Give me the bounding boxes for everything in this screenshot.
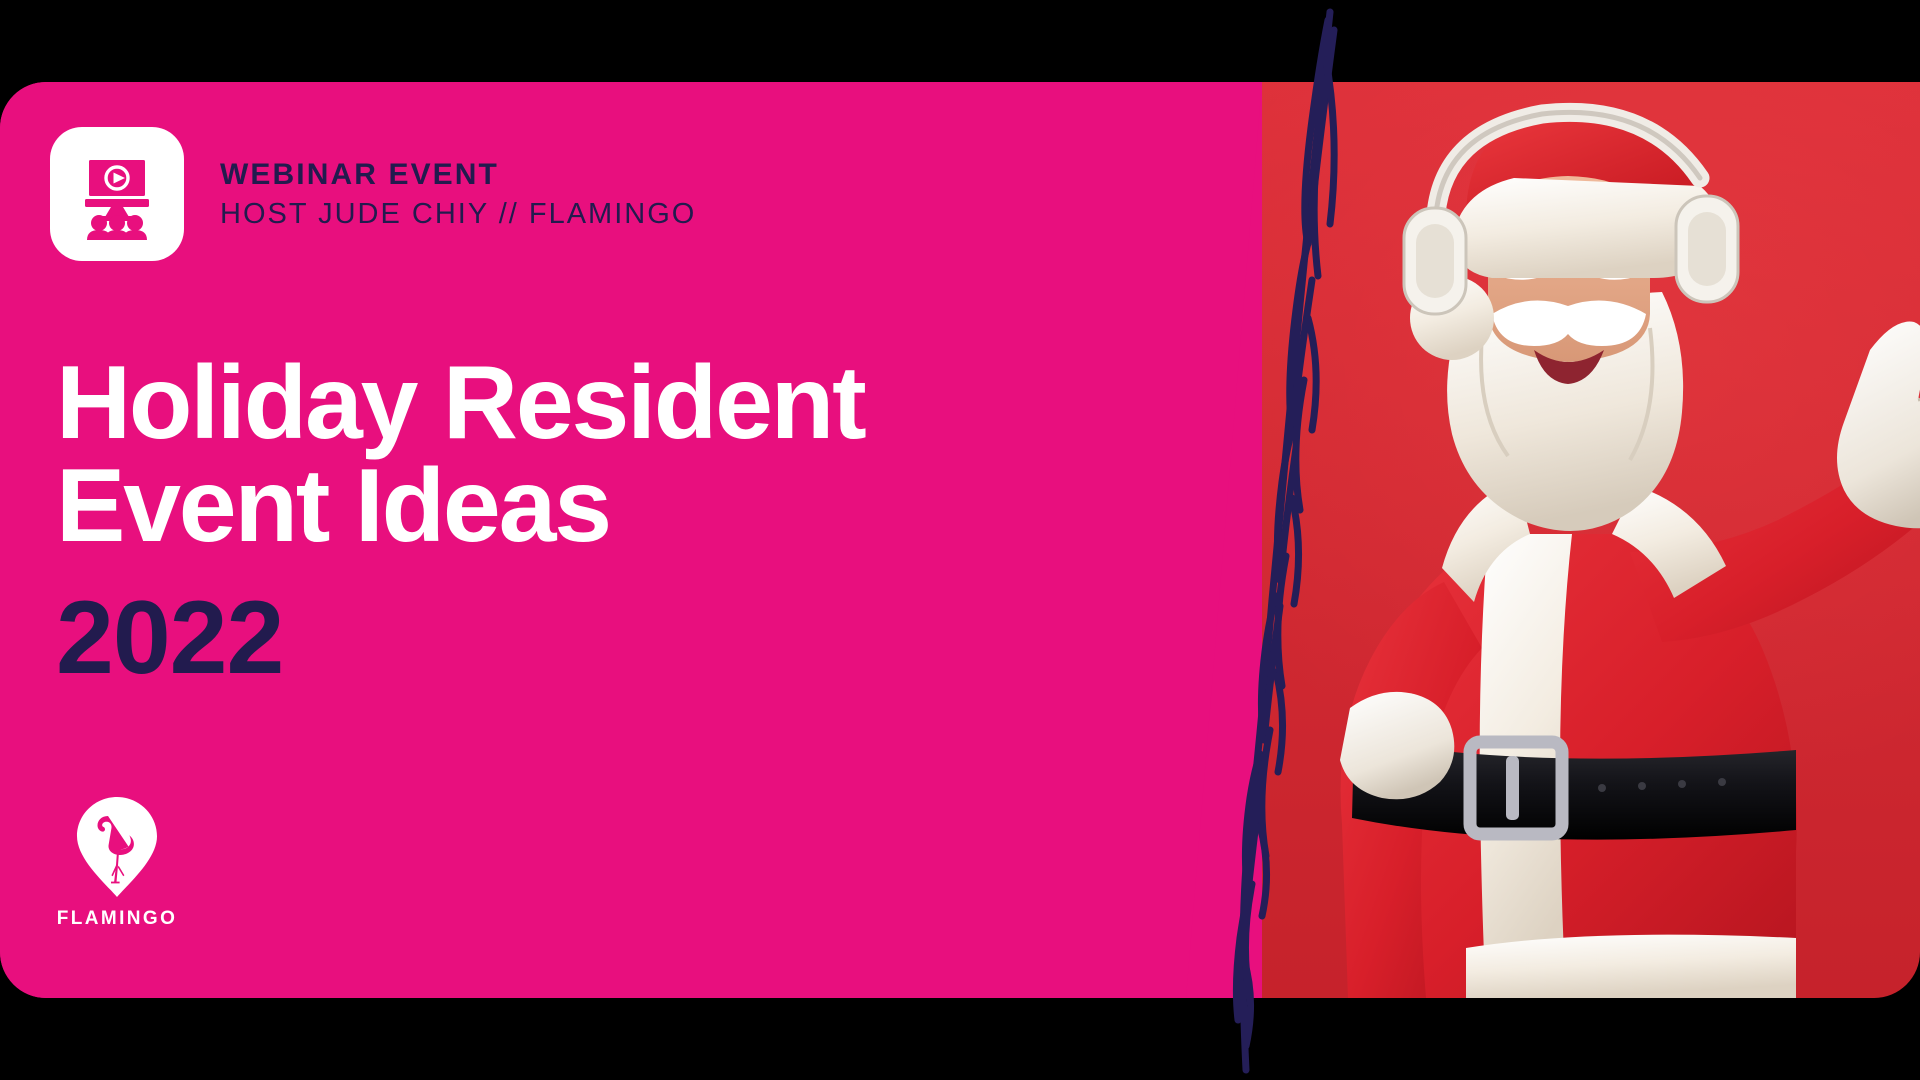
title-line-2: Event Ideas [56, 455, 865, 558]
header-text-group: WEBINAR EVENT HOST JUDE CHIY // FLAMINGO [220, 158, 696, 231]
banner-canvas: WEBINAR EVENT HOST JUDE CHIY // FLAMINGO… [0, 0, 1920, 1080]
title-line-1: Holiday Resident [56, 352, 865, 455]
eyebrow-label: WEBINAR EVENT [220, 158, 696, 191]
webinar-presentation-icon-tile [50, 127, 184, 261]
santa-photo-container [1230, 82, 1920, 998]
brand-wordmark: FLAMINGO [57, 909, 178, 928]
webinar-presentation-icon [71, 148, 163, 240]
flamingo-pin-logo [75, 795, 159, 899]
brand-logo: FLAMINGO [62, 795, 172, 928]
banner-header: WEBINAR EVENT HOST JUDE CHIY // FLAMINGO [50, 127, 696, 261]
page-title: Holiday Resident Event Ideas 2022 [56, 352, 865, 690]
title-year: 2022 [56, 586, 865, 690]
host-label: HOST JUDE CHIY // FLAMINGO [220, 199, 696, 231]
santa-claus-with-sunglasses-and-headphones-photo [1230, 82, 1920, 998]
